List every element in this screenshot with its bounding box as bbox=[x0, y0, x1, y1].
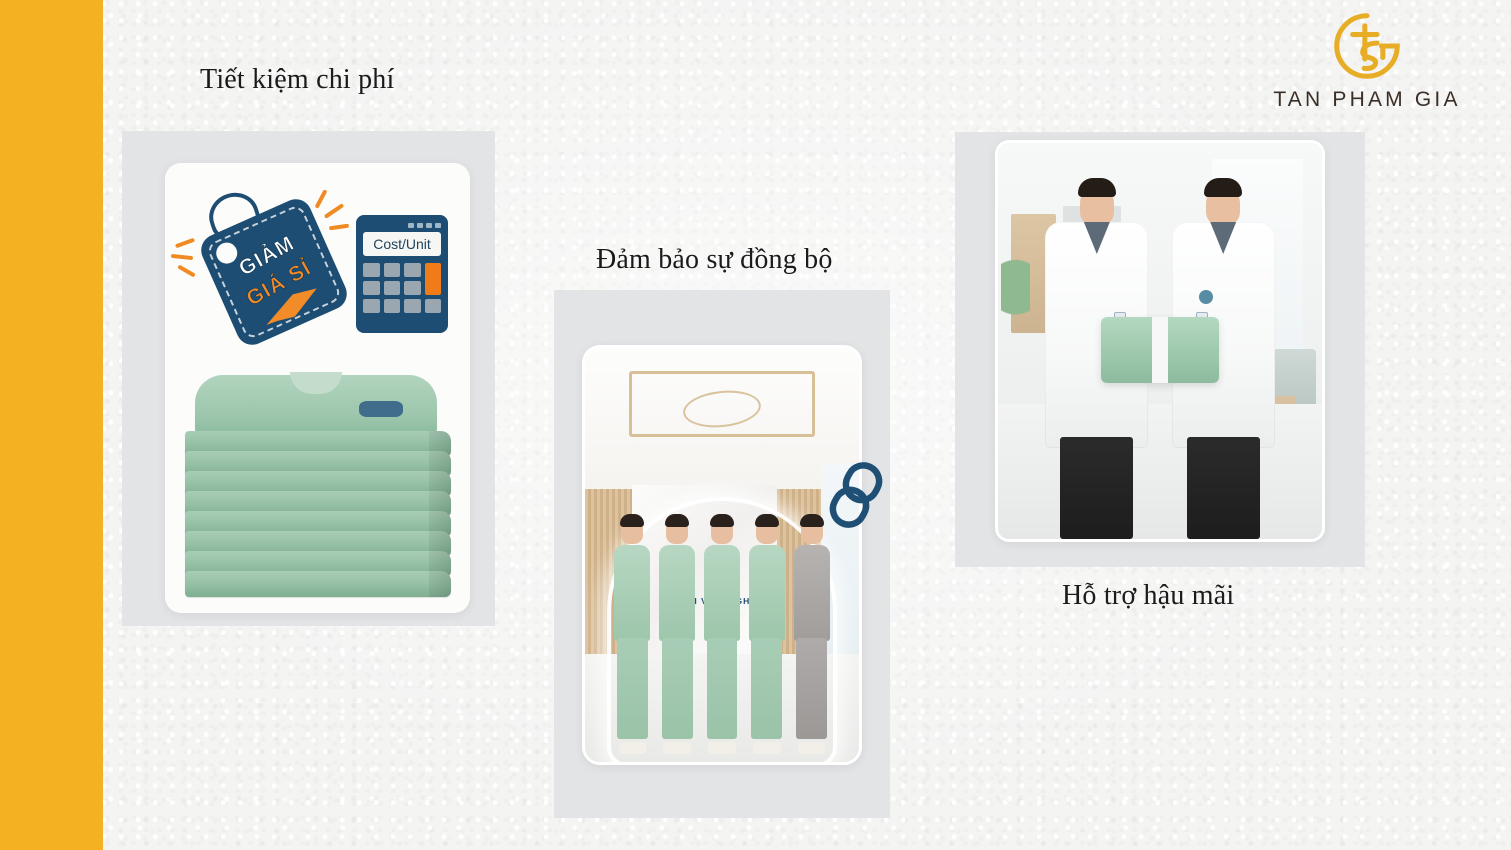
hospital-staff-photo: BỆNH VIỆN NGHỆ AN bbox=[585, 348, 859, 762]
chain-link-icon bbox=[828, 458, 884, 532]
price-tag-group: GIẢM GIÁ SỈ bbox=[193, 185, 353, 365]
card-label-cost-saving: Tiết kiệm chi phí bbox=[200, 64, 394, 96]
staff-member bbox=[790, 514, 833, 754]
top-folded-garment bbox=[195, 375, 437, 435]
tpg-monogram-icon bbox=[1331, 10, 1403, 82]
card-frame-cost-saving: GIẢM GIÁ SỈ Cost/Unit bbox=[122, 131, 495, 626]
cost-saving-illustration: GIẢM GIÁ SỈ Cost/Unit bbox=[165, 163, 470, 613]
staff-scrub-top bbox=[749, 545, 785, 641]
staff-scrub-top bbox=[614, 545, 650, 641]
doctor-trousers bbox=[1060, 437, 1133, 539]
garment-collar bbox=[290, 372, 342, 394]
staff-scrub-pants bbox=[751, 638, 782, 739]
card-label-after-sales: Hỗ trợ hậu mãi bbox=[1062, 580, 1234, 612]
doctors-handover-photo bbox=[998, 143, 1322, 539]
staff-hair bbox=[710, 514, 734, 527]
calculator-indicator-dots bbox=[363, 223, 441, 228]
spark-line bbox=[171, 254, 193, 260]
slide-canvas: TAN PHAM GIA Tiết kiệm chi phí bbox=[0, 0, 1511, 850]
staff-scrub-pants bbox=[617, 638, 648, 739]
staff-scrub-top bbox=[704, 545, 740, 641]
staff-member bbox=[656, 514, 699, 754]
staff-shoes bbox=[798, 742, 825, 754]
staff-hair bbox=[800, 514, 824, 527]
card-frame-after-sales bbox=[955, 132, 1365, 567]
spark-line bbox=[177, 265, 195, 278]
staff-hair bbox=[755, 514, 779, 527]
staff-group bbox=[596, 514, 848, 754]
calculator-display: Cost/Unit bbox=[363, 232, 441, 256]
staff-hair bbox=[620, 514, 644, 527]
card-image-after-sales bbox=[995, 140, 1325, 542]
coat-emblem bbox=[1199, 290, 1213, 304]
brand-logo: TAN PHAM GIA bbox=[1267, 10, 1467, 112]
staff-scrub-pants bbox=[796, 638, 827, 739]
card-frame-uniformity: BỆNH VIỆN NGHỆ AN bbox=[554, 290, 890, 818]
coat-lapel bbox=[1084, 222, 1110, 254]
doctor-hair bbox=[1204, 178, 1242, 197]
uniform-package bbox=[1101, 317, 1219, 383]
staff-hair bbox=[665, 514, 689, 527]
staff-member bbox=[701, 514, 744, 754]
fabric-fold bbox=[185, 571, 451, 597]
staff-scrub-pants bbox=[662, 638, 693, 739]
spark-line bbox=[315, 189, 328, 209]
staff-shoes bbox=[753, 742, 780, 754]
accent-bar-left bbox=[0, 0, 103, 850]
potted-plant bbox=[1001, 246, 1030, 349]
spark-line bbox=[175, 238, 195, 249]
spark-line bbox=[329, 224, 349, 231]
card-image-uniformity: BỆNH VIỆN NGHỆ AN bbox=[582, 345, 862, 765]
staff-scrub-top bbox=[659, 545, 695, 641]
folded-scrubs-stack bbox=[185, 375, 451, 605]
calculator-icon: Cost/Unit bbox=[356, 215, 448, 333]
coat-lapel bbox=[1210, 222, 1236, 254]
staff-shoes bbox=[708, 742, 735, 754]
brand-name: TAN PHAM GIA bbox=[1267, 88, 1467, 112]
card-label-uniformity: Đảm bảo sự đồng bộ bbox=[596, 244, 833, 276]
doctor-trousers bbox=[1187, 437, 1260, 539]
spark-line bbox=[324, 203, 344, 219]
staff-scrub-top bbox=[794, 545, 830, 641]
staff-shoes bbox=[663, 742, 690, 754]
garment-embroidery-logo bbox=[359, 401, 403, 417]
doctor-hair bbox=[1078, 178, 1116, 197]
calculator-keys bbox=[363, 263, 441, 313]
staff-member bbox=[611, 514, 654, 754]
staff-shoes bbox=[619, 742, 646, 754]
card-image-cost-saving: GIẢM GIÁ SỈ Cost/Unit bbox=[165, 163, 470, 613]
staff-member bbox=[745, 514, 788, 754]
package-ribbon bbox=[1152, 317, 1168, 383]
staff-scrub-pants bbox=[707, 638, 738, 739]
